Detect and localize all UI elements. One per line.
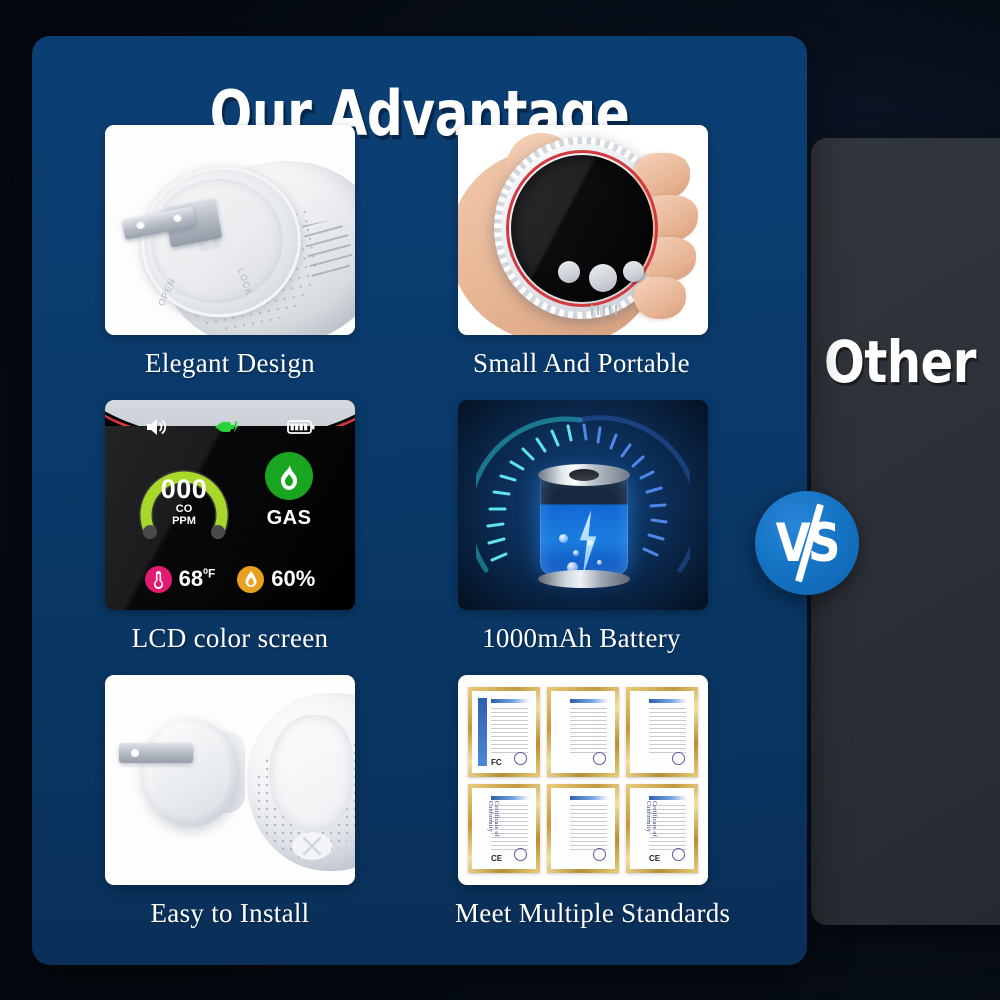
feature-meet-multiple-standards: FC Certificate of ConformityCE Certifica…: [458, 675, 708, 929]
gas-status-circle: [265, 452, 313, 500]
hand-finger-4: [634, 277, 686, 319]
gas-indicator: GAS: [248, 448, 330, 544]
battery-base: [538, 570, 630, 588]
prong-hole-right: [173, 213, 182, 222]
feature-caption: Easy to Install: [105, 897, 355, 929]
co-unit-line2: PPM: [172, 515, 196, 527]
detector-socket-recess: [269, 715, 353, 831]
temp-number: 68: [179, 566, 203, 591]
speaker-icon: [145, 418, 167, 436]
gas-label: GAS: [248, 507, 330, 530]
our-advantage-panel: Our Advantage OPEN LOCK Elegant Design: [32, 36, 807, 965]
feature-caption: Elegant Design: [105, 347, 355, 379]
certificate: [547, 784, 619, 874]
co-gauge: 000 CO PPM: [130, 448, 238, 544]
feature-caption: LCD color screen: [105, 622, 355, 654]
humidity-value: 60%: [271, 566, 315, 592]
certificate: Certificate of ConformityCE: [626, 784, 698, 874]
feature-lcd-color-screen: 000 CO PPM GAS: [105, 400, 355, 654]
certificates-grid-photo: FC Certificate of ConformityCE Certifica…: [458, 675, 708, 885]
temperature-readout: 68⁰F: [145, 566, 216, 593]
certificate: Certificate of ConformityCE: [468, 784, 540, 874]
bubble: [597, 560, 602, 565]
glowing-battery-illustration: [458, 400, 708, 610]
battery-terminal-top: [538, 464, 630, 486]
device-button-power: [589, 264, 617, 292]
temperature-value: 68⁰F: [179, 566, 216, 592]
feature-1000mah-battery: 1000mAh Battery: [458, 400, 708, 654]
lcd-main-readouts: 000 CO PPM GAS: [105, 448, 355, 540]
temp-unit: ⁰F: [203, 567, 215, 581]
bubble: [573, 550, 579, 556]
bubble: [587, 540, 594, 547]
humidity-droplet-icon: [237, 566, 264, 593]
detector-x-emblem: [291, 825, 333, 867]
device-button-right: [623, 261, 644, 282]
feature-caption: Meet Multiple Standards: [455, 897, 708, 929]
co-unit-label: CO PPM: [130, 503, 238, 527]
feature-caption: Small And Portable: [455, 347, 708, 379]
hand-holding-round-detector-photo: [458, 125, 708, 335]
battery-icon: [287, 419, 315, 435]
co-unit-line1: CO: [176, 503, 193, 515]
feature-small-and-portable: Small And Portable: [458, 125, 708, 379]
feature-easy-to-install: Easy to Install: [105, 675, 355, 929]
flame-icon: [276, 461, 302, 491]
feature-caption: 1000mAh Battery: [455, 622, 708, 654]
lcd-status-bar: [105, 416, 355, 438]
certificates-grid: FC Certificate of ConformityCE Certifica…: [468, 687, 698, 873]
co-value: 000: [130, 474, 238, 505]
device-speaker-slots: [591, 305, 617, 315]
lcd-display-screenshot: 000 CO PPM GAS: [105, 400, 355, 610]
certificate: [547, 687, 619, 777]
certificate: [626, 687, 698, 777]
prong-hole-left: [136, 220, 145, 229]
plug-module: [143, 719, 239, 827]
humidity-readout: 60%: [237, 566, 315, 593]
feature-elegant-design: OPEN LOCK Elegant Design: [105, 125, 355, 379]
plug-prong: [119, 743, 193, 763]
bubble: [559, 534, 568, 543]
certificate: FC: [468, 687, 540, 777]
vs-badge: VS: [755, 491, 859, 595]
device-button-left: [558, 261, 580, 283]
battery-electrolyte: [540, 475, 628, 575]
lcd-environment-readouts: 68⁰F 60%: [105, 562, 355, 596]
exploded-plug-module-photo: [105, 675, 355, 885]
battery-cell: [538, 464, 630, 588]
charging-plug-icon: [213, 418, 241, 436]
thermometer-icon: [145, 566, 172, 593]
other-panel-title: Other: [818, 328, 982, 396]
detector-back-plug-photo: OPEN LOCK: [105, 125, 355, 335]
